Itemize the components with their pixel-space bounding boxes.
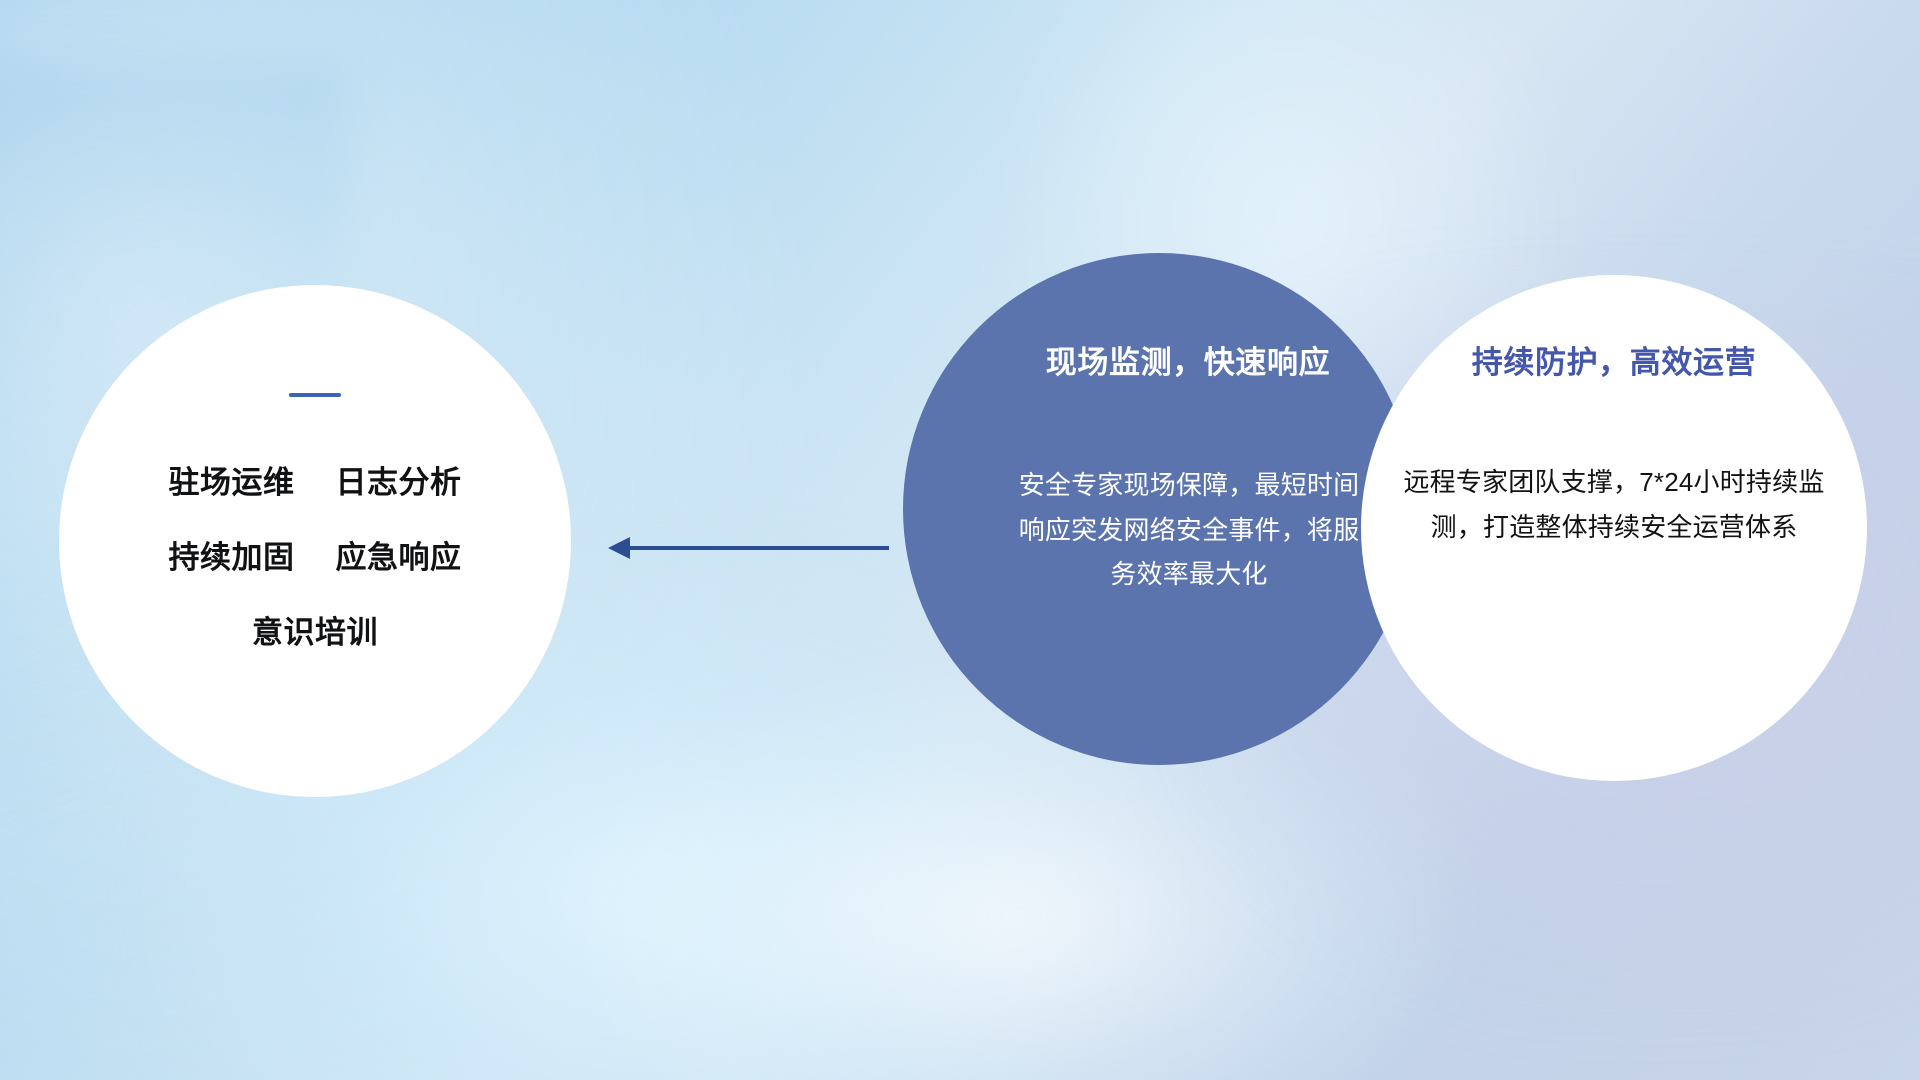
flow-arrow-left: [600, 520, 890, 576]
capability-tag[interactable]: 应急响应: [336, 542, 462, 573]
continuous-protection-circle[interactable]: 持续防护，高效运营 远程专家团队支撑，7*24小时持续监测，打造整体持续安全运营…: [1361, 275, 1867, 781]
capability-row: 持续加固 应急响应: [169, 542, 462, 573]
capability-tag[interactable]: 意识培训: [252, 617, 378, 648]
onsite-monitoring-circle[interactable]: 现场监测，快速响应 安全专家现场保障，最短时间响应突发网络安全事件，将服务效率最…: [903, 253, 1415, 765]
continuous-protection-body: 远程专家团队支撑，7*24小时持续监测，打造整体持续安全运营体系: [1394, 460, 1834, 549]
capability-tag[interactable]: 持续加固: [169, 542, 295, 573]
capability-tag[interactable]: 驻场运维: [169, 467, 295, 498]
capability-circle[interactable]: 驻场运维 日志分析 持续加固 应急响应 意识培训: [59, 285, 571, 797]
onsite-monitoring-body: 安全专家现场保障，最短时间响应突发网络安全事件，将服务效率最大化: [1010, 463, 1368, 597]
onsite-monitoring-title: 现场监测，快速响应: [1046, 337, 1330, 382]
capability-circle-content: 驻场运维 日志分析 持续加固 应急响应 意识培训: [59, 285, 571, 797]
slide-canvas: 驻场运维 日志分析 持续加固 应急响应 意识培训 现场监测，快速响应 安全专家现…: [0, 0, 1920, 1080]
onsite-monitoring-content: 现场监测，快速响应 安全专家现场保障，最短时间响应突发网络安全事件，将服务效率最…: [903, 253, 1415, 765]
capability-tag[interactable]: 日志分析: [336, 467, 462, 498]
capability-row: 意识培训: [252, 617, 378, 648]
continuous-protection-title: 持续防护，高效运营: [1472, 337, 1756, 382]
accent-divider-icon: [289, 393, 341, 397]
capability-row: 驻场运维 日志分析: [169, 467, 462, 498]
continuous-protection-content: 持续防护，高效运营 远程专家团队支撑，7*24小时持续监测，打造整体持续安全运营…: [1361, 275, 1867, 781]
